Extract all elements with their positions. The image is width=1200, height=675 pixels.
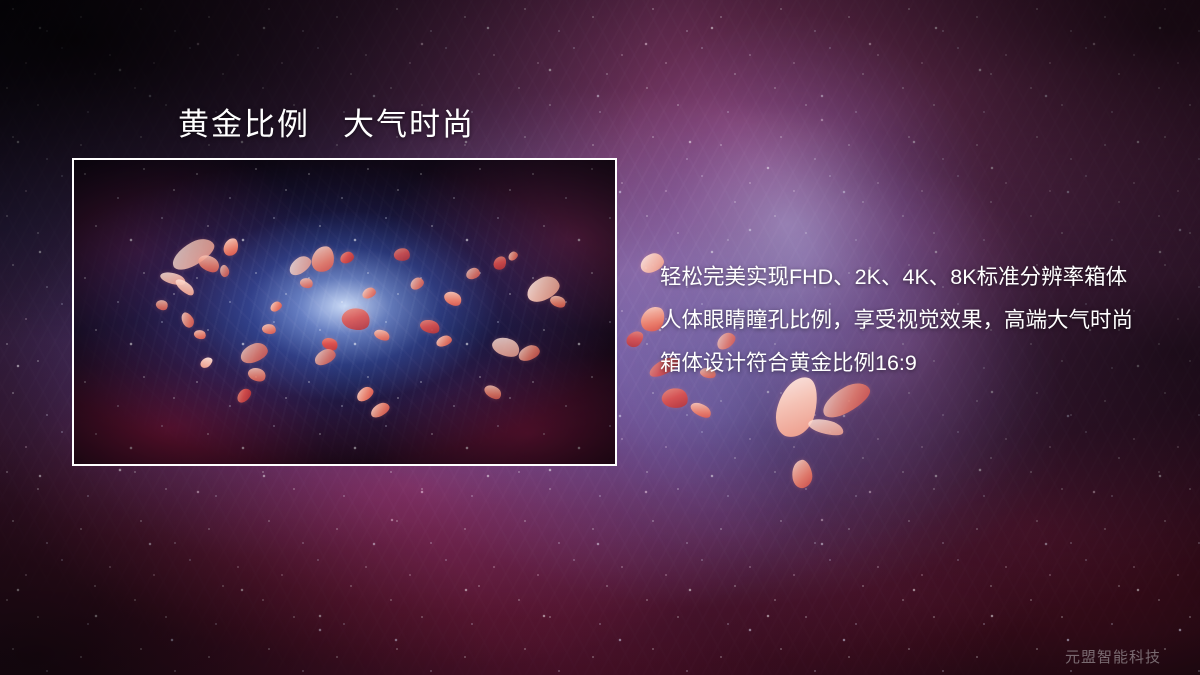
body-description: 轻松完美实现FHD、2K、4K、8K标准分辨率箱体人体眼睛瞳孔比例，享受视觉效果… (660, 256, 1180, 385)
image-frame-16-9 (72, 158, 617, 466)
watermark-brand: 元盟智能科技 (1065, 646, 1161, 667)
panel-vignette (74, 160, 615, 464)
body-line-3: 箱体设计符合黄金比例16:9 (660, 342, 1180, 385)
body-line-2: 人体眼睛瞳孔比例，享受视觉效果，高端大气时尚 (660, 299, 1180, 342)
slide-canvas: 黄金比例 大气时尚 轻松完美实现FHD、2K、4K、8K标准分辨率箱体人体眼睛瞳… (0, 0, 1200, 675)
page-title: 黄金比例 大气时尚 (178, 99, 475, 144)
body-line-1: 轻松完美实现FHD、2K、4K、8K标准分辨率箱体 (660, 256, 1180, 299)
